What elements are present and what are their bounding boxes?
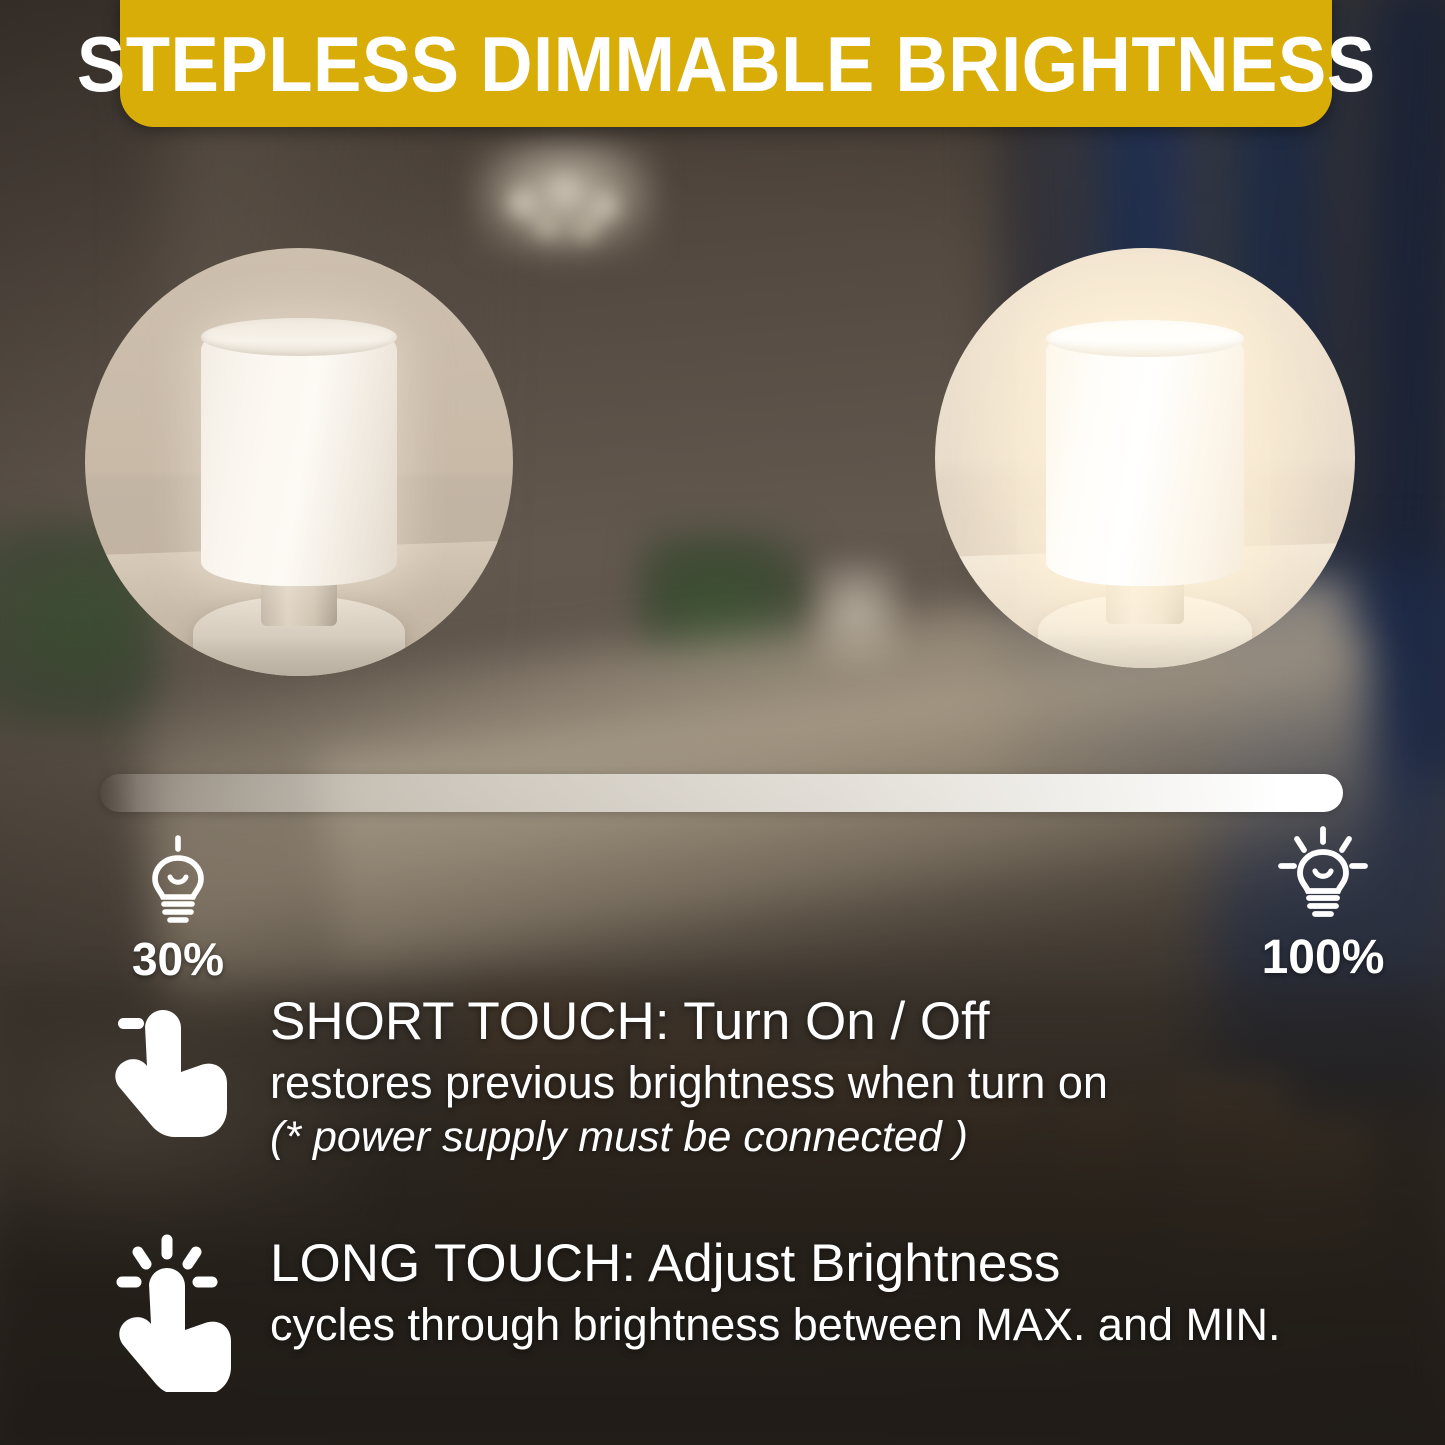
short-touch-title: SHORT TOUCH: Turn On / Off xyxy=(270,994,1108,1050)
lamp-photo-dim xyxy=(85,248,513,676)
dim-lamp-shade-top xyxy=(201,318,397,356)
bulb-bright-icon xyxy=(1271,826,1375,924)
short-touch-icon-wrap xyxy=(100,990,270,1140)
hand-long-press-icon xyxy=(100,1232,255,1392)
bright-lamp-shade xyxy=(1046,320,1244,586)
long-touch-subtitle: cycles through brightness between MAX. a… xyxy=(270,1300,1281,1350)
instruction-long-touch: LONG TOUCH: Adjust Brightness cycles thr… xyxy=(100,1232,1281,1392)
brightness-slider-track[interactable] xyxy=(100,774,1343,812)
long-touch-text: LONG TOUCH: Adjust Brightness cycles thr… xyxy=(270,1232,1281,1351)
brightness-min-group: 30% xyxy=(108,834,248,982)
bright-lamp-shade-top xyxy=(1046,320,1244,357)
brightness-min-label: 30% xyxy=(108,936,248,982)
long-touch-icon-wrap xyxy=(100,1232,270,1392)
short-touch-text: SHORT TOUCH: Turn On / Off restores prev… xyxy=(270,990,1108,1161)
short-touch-note: (* power supply must be connected ) xyxy=(270,1113,1108,1161)
header-banner: STEPLESS DIMMABLE BRIGHTNESS xyxy=(120,0,1332,127)
dim-lamp-shade xyxy=(201,318,397,586)
lamp-photo-bright xyxy=(935,248,1355,668)
infographic-canvas: STEPLESS DIMMABLE BRIGHTNESS xyxy=(0,0,1445,1445)
brightness-max-group: 100% xyxy=(1248,826,1398,982)
brightness-max-label: 100% xyxy=(1248,934,1398,982)
banner-title: STEPLESS DIMMABLE BRIGHTNESS xyxy=(77,19,1376,103)
long-touch-title: LONG TOUCH: Adjust Brightness xyxy=(270,1236,1281,1292)
background-dim-overlay xyxy=(0,0,1445,1445)
short-touch-subtitle: restores previous brightness when turn o… xyxy=(270,1058,1108,1108)
instruction-short-touch: SHORT TOUCH: Turn On / Off restores prev… xyxy=(100,990,1108,1161)
bulb-dim-icon xyxy=(134,834,222,926)
hand-short-tap-icon xyxy=(100,990,250,1140)
